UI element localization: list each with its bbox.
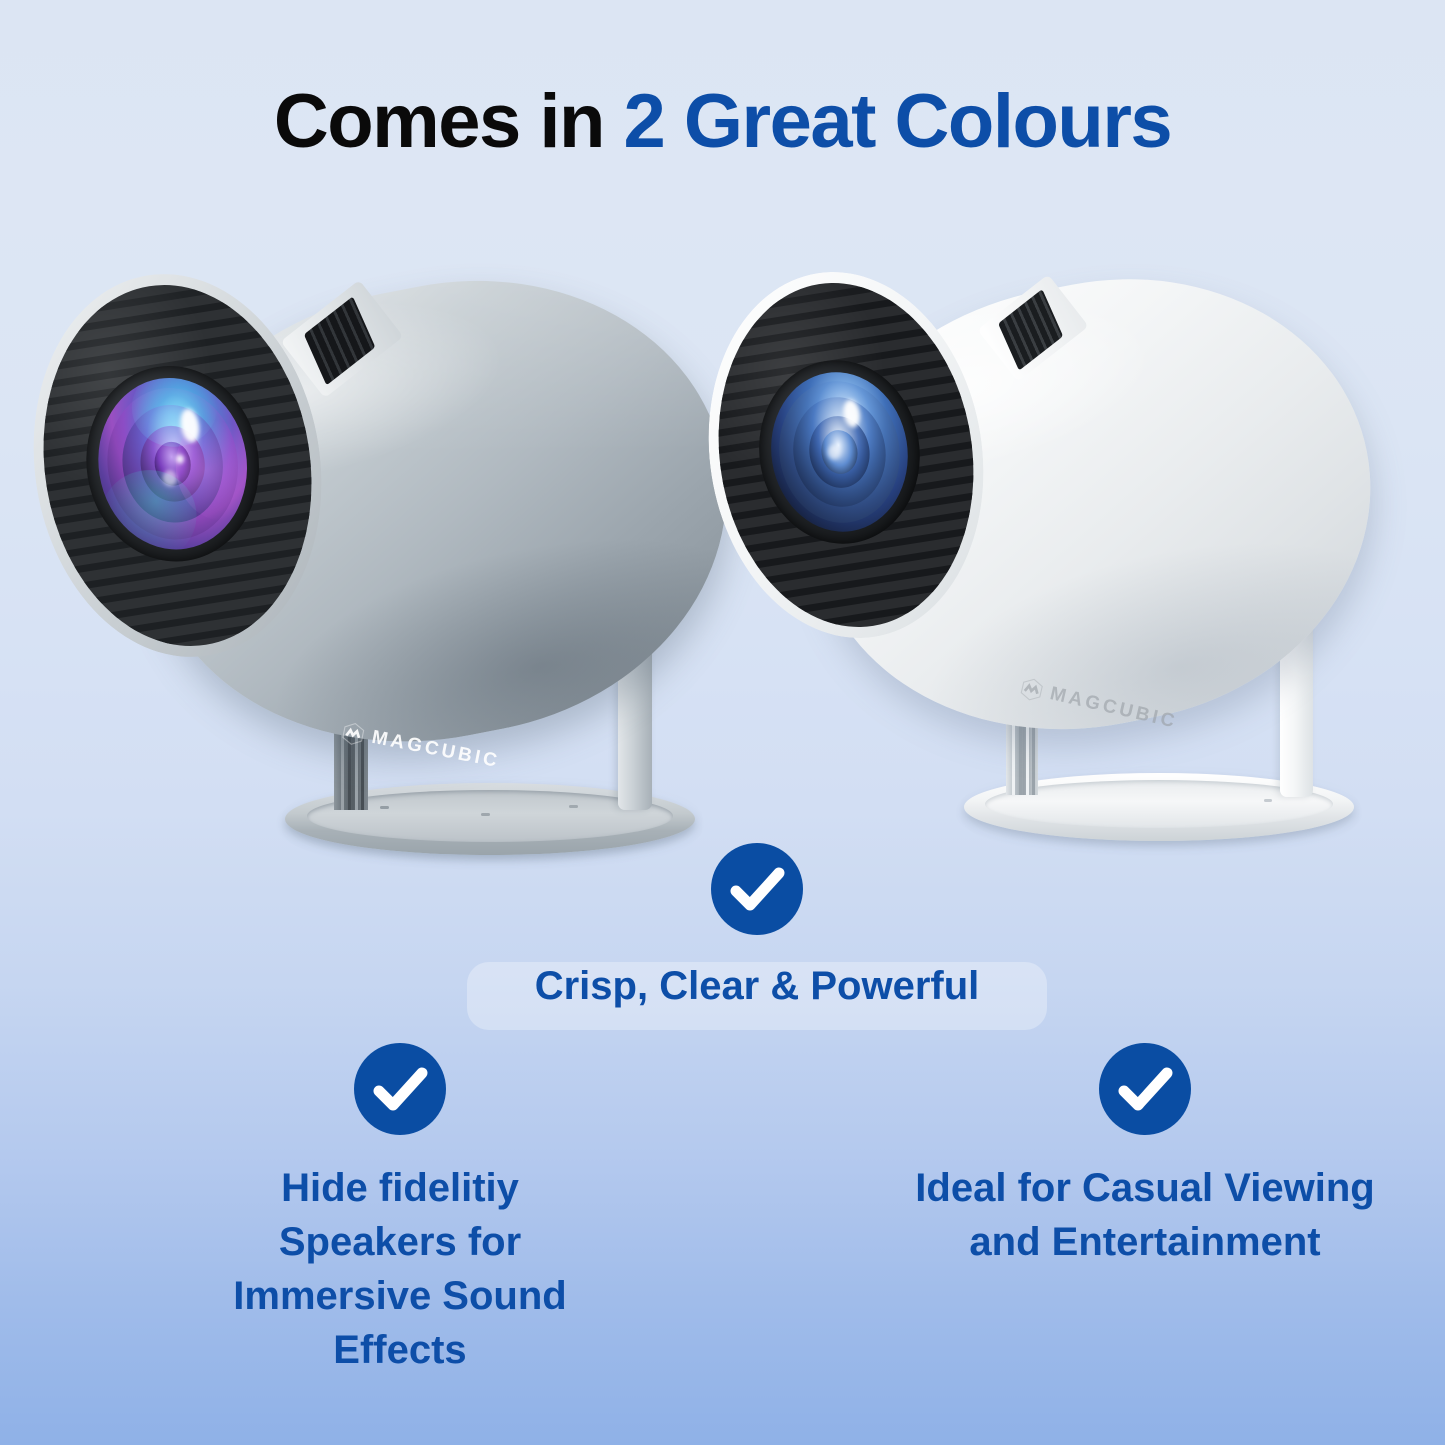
feature-left: Hide fidelitiy Speakers for Immersive So… xyxy=(140,1043,660,1377)
magcubic-m-icon xyxy=(339,720,367,748)
feature-center-label: Crisp, Clear & Powerful xyxy=(472,959,1042,1013)
magcubic-m-icon xyxy=(1017,675,1046,704)
feature-right: Ideal for Casual Viewing and Entertainme… xyxy=(885,1043,1405,1269)
feature-right-label: Ideal for Casual Viewing and Entertainme… xyxy=(885,1161,1405,1269)
product-stage: MAGCUBIC xyxy=(0,0,1445,900)
feature-center: Crisp, Clear & Powerful xyxy=(472,843,1042,1013)
feature-left-label: Hide fidelitiy Speakers for Immersive So… xyxy=(140,1161,660,1377)
product-image-white-projector: MAGCUBIC xyxy=(700,255,1380,855)
check-circle-icon xyxy=(1099,1043,1191,1135)
product-image-gray-projector: MAGCUBIC xyxy=(20,255,750,865)
check-circle-icon xyxy=(711,843,803,935)
check-circle-icon xyxy=(354,1043,446,1135)
